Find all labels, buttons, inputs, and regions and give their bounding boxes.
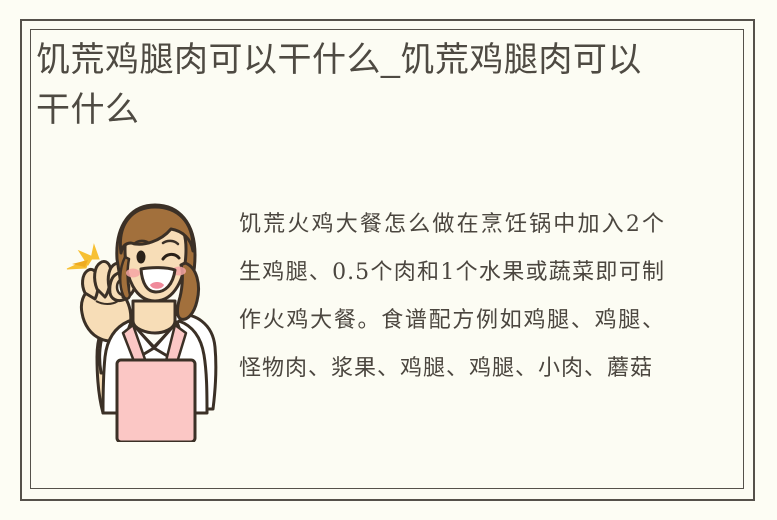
- sparkle-icon: [67, 245, 99, 269]
- hair-strand-left: [120, 257, 130, 299]
- woman-chef-illustration-svg: [55, 197, 227, 442]
- eye-open: [137, 251, 146, 264]
- illustration-woman-chef-ok-gesture: [55, 197, 227, 442]
- neck: [133, 301, 175, 333]
- article-content: 饥荒火鸡大餐怎么做在烹饪锅中加入2个生鸡腿、0.5个肉和1个水果或蔬菜即可制作火…: [28, 175, 749, 500]
- apron: [117, 360, 195, 442]
- article-body: 饥荒火鸡大餐怎么做在烹饪锅中加入2个生鸡腿、0.5个肉和1个水果或蔬菜即可制作火…: [239, 201, 749, 393]
- article-page: 饥荒鸡腿肉可以干什么_饥荒鸡腿肉可以干什么: [0, 0, 777, 520]
- page-title: 饥荒鸡腿肉可以干什么_饥荒鸡腿肉可以干什么: [36, 35, 676, 135]
- blush-left: [126, 269, 140, 278]
